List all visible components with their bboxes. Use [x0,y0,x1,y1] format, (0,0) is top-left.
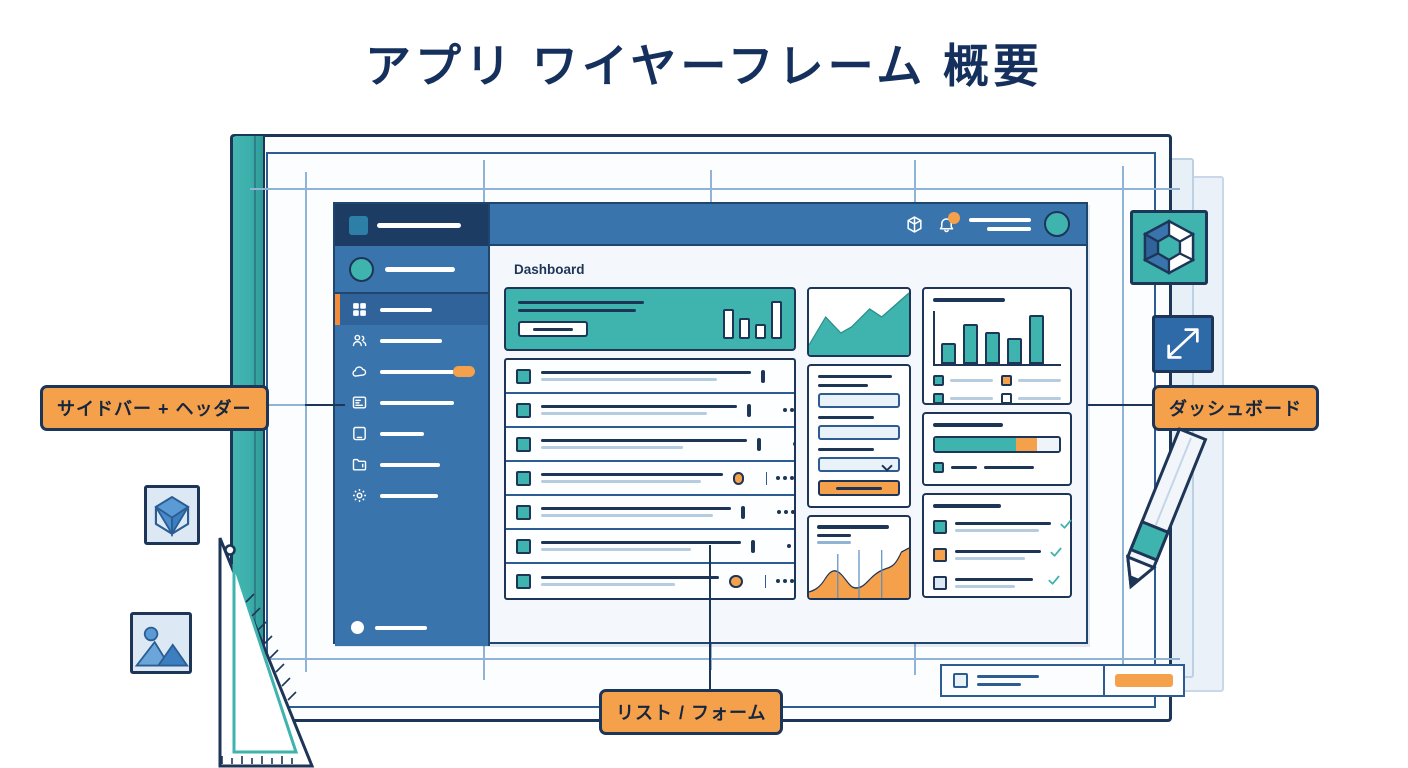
legend-swatch [933,462,944,473]
callout-list-form: リスト / フォーム [599,689,783,735]
row-checkbox[interactable] [516,539,531,554]
legend-label [951,466,977,469]
header-text-lines [969,218,1031,231]
item-text [955,522,1051,532]
row-divider [765,575,766,588]
app-logo-icon [349,216,368,235]
page-title: アプリ ワイヤーフレーム 概要 [0,30,1408,96]
bar [985,332,1000,364]
status-badge [729,575,743,588]
row-checkbox[interactable] [516,471,531,486]
progress-card [922,412,1072,486]
legend-item [1001,375,1061,386]
checkbox-icon[interactable] [933,520,947,534]
footer-action-area [1103,666,1183,695]
table-row[interactable] [506,428,794,462]
table-row[interactable] [506,360,794,394]
check-icon [1047,573,1061,592]
table-row[interactable] [506,496,794,530]
guide-line-horizontal [250,188,1180,190]
app-sidebar [335,246,490,646]
sidebar-item-dashboard[interactable] [335,294,488,325]
wireframe-overview-illustration: アプリ ワイヤーフレーム 概要 [0,0,1408,768]
cube-icon[interactable] [905,215,924,234]
row-text [541,541,741,551]
legend-label [1018,397,1061,400]
text-input[interactable] [818,425,900,440]
trend-area-chart [807,287,911,357]
sidebar-profile-name-placeholder [385,267,455,272]
legend-swatch [933,393,944,404]
avatar[interactable] [1044,211,1070,237]
callout-leader-line [305,404,345,406]
item-list [504,358,796,600]
sidebar-item-label [380,463,440,467]
table-row[interactable] [506,394,794,428]
checkbox-icon[interactable] [953,673,968,688]
table-row[interactable] [506,530,794,564]
submit-button[interactable] [818,480,900,496]
legend-item [1001,393,1061,404]
card-title-placeholder [933,298,1005,302]
row-text [541,405,737,415]
progress-segment-remaining [1037,438,1059,451]
card-sub-placeholder [817,534,851,537]
hero-action-button[interactable] [518,321,588,337]
status-badge [733,472,744,485]
decoration-tile-hexagon [1130,210,1208,285]
pencil-icon [1105,415,1205,640]
status-badge [757,438,761,451]
progress-segment-done [935,438,1016,451]
app-title-placeholder [377,223,461,228]
grid-icon [351,301,368,318]
table-row[interactable] [506,564,794,598]
app-main-content: Dashboard [490,246,1086,642]
select-dropdown[interactable] [818,457,900,472]
ellipsis-icon[interactable] [793,442,796,446]
row-checkbox[interactable] [516,574,531,589]
legend-label [950,397,993,400]
ellipsis-icon[interactable] [777,510,795,514]
legend-swatch [1001,375,1012,386]
row-text [541,371,751,381]
hero-summary-card [504,287,796,351]
ellipsis-icon[interactable] [783,408,796,412]
legend-label [1018,379,1061,382]
row-checkbox[interactable] [516,437,531,452]
users-icon [351,332,368,349]
set-square-ruler-icon [200,528,318,768]
ellipsis-icon[interactable] [787,544,796,548]
sidebar-item-label [380,339,442,343]
hero-line-1 [518,301,644,304]
legend-label [984,466,1034,469]
footer-left-group [942,673,1103,688]
decoration-tile-gem [144,485,200,545]
table-row[interactable] [506,462,794,496]
progress-legend [933,462,1061,473]
hero-line-2 [518,309,636,312]
cloud-icon [351,363,368,380]
category-bar-chart [922,287,1072,405]
list-item[interactable] [933,517,1061,536]
check-icon [1049,545,1063,564]
sidebar-item-settings[interactable] [335,480,488,511]
card-title-placeholder [933,504,1001,508]
status-badge [741,506,745,519]
legend-label [950,379,993,382]
hero-text-block [518,301,644,337]
hero-mini-bar-chart [723,299,782,339]
sidebar-item-label [380,494,438,498]
row-checkbox[interactable] [516,369,531,384]
legend-swatch [933,375,944,386]
bar [1007,338,1022,364]
sidebar-item-documents[interactable] [335,387,488,418]
status-badge [761,370,765,383]
item-text [955,578,1039,588]
notification-badge-dot [948,212,960,224]
form-field-label [818,416,874,419]
sidebar-item-label [380,308,432,312]
sidebar-item-badge [453,366,475,377]
gear-icon [351,487,368,504]
checklist-card [922,493,1072,598]
middle-column [807,287,911,600]
sidebar-item-devices[interactable] [335,418,488,449]
footer-text-lines [977,675,1039,686]
sidebar-item-label [380,432,424,436]
left-column [504,287,796,600]
bar [941,343,956,364]
callout-label: サイドバー + ヘッダー [57,399,252,419]
sidebar-footer[interactable] [335,621,488,634]
progress-bar [933,436,1061,453]
bar [963,324,978,364]
sidebar-item-users[interactable] [335,325,488,356]
callout-sidebar-header: サイドバー + ヘッダー [40,385,269,431]
card-title-placeholder [817,525,889,529]
checkbox-icon[interactable] [933,548,947,562]
orange-sparkline-chart [807,515,911,600]
app-header-bar [335,204,1086,246]
bar [1029,315,1044,364]
progress-segment-pending [1016,438,1037,451]
legend-swatch [1001,393,1012,404]
row-text [541,439,747,449]
row-checkbox[interactable] [516,403,531,418]
app-brand-area[interactable] [335,204,490,246]
ellipsis-icon[interactable] [776,579,794,583]
input-form-card [807,364,911,508]
sidebar-footer-label [375,626,427,630]
document-icon [351,394,368,411]
avatar [349,257,374,282]
sidebar-profile[interactable] [335,246,488,294]
list-item[interactable] [933,545,1061,564]
form-field-label [818,375,892,378]
monitor-icon [351,425,368,442]
row-text [541,576,719,586]
row-text [541,473,723,483]
header-actions [905,211,1086,237]
guide-line-horizontal [250,658,1180,660]
list-item[interactable] [933,573,1061,592]
ellipsis-icon[interactable] [776,476,794,480]
callout-label: リスト / フォーム [616,703,766,723]
decoration-tile-image [130,612,192,674]
bar-chart-plot [933,311,1061,366]
sidebar-item-label [380,401,454,405]
page-heading: Dashboard [514,262,1074,277]
footer-action-button[interactable] [1115,674,1173,687]
sidebar-item-folders[interactable] [335,449,488,480]
sidebar-item-cloud[interactable] [335,356,488,387]
sidebar-item-label [380,370,454,374]
status-badge [751,540,755,553]
decoration-tile-resize [1152,315,1214,373]
legend-item [933,393,993,404]
sheet-footer-bar [940,664,1185,697]
dot-icon [351,621,364,634]
callout-leader-line [709,545,711,691]
status-badge [747,404,751,417]
folder-icon [351,456,368,473]
bell-icon[interactable] [937,215,956,234]
row-text [541,507,731,517]
check-icon [1059,517,1073,536]
legend-item [933,375,993,386]
right-column [922,287,1072,600]
text-input[interactable] [818,393,900,408]
card-title-placeholder [933,423,1003,427]
row-checkbox[interactable] [516,505,531,520]
callout-leader-line [1088,404,1158,406]
form-field-label [818,384,868,387]
chart-legend [933,375,1061,404]
form-field-label [818,448,874,451]
item-text [955,550,1041,560]
checkbox-icon[interactable] [933,576,947,590]
